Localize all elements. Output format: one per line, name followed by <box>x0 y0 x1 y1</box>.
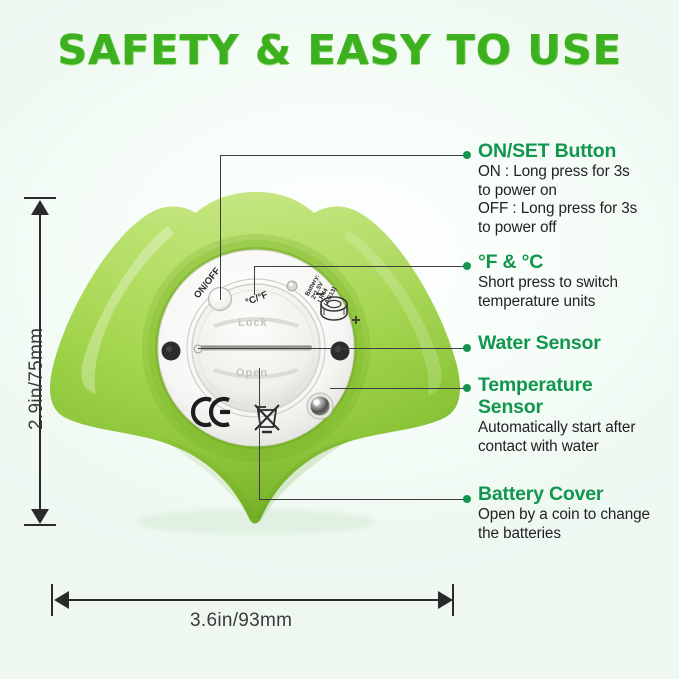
width-cap-right <box>452 584 454 616</box>
infographic-canvas: SAFETY & EASY TO USE <box>0 0 679 679</box>
callout-line: to power off <box>478 219 637 238</box>
width-arrow-right <box>438 591 453 609</box>
temperature-sensor-element <box>307 393 333 419</box>
callout-line: to power on <box>478 182 637 201</box>
leader-unit-horizontal <box>254 266 465 267</box>
leader-battery-vertical <box>259 368 260 500</box>
product-illustration: ON/OFF °C/°F Battery: 2*1.5V LR44 (AG13)… <box>48 186 468 546</box>
width-line <box>60 599 446 601</box>
height-arrow-bottom <box>31 509 49 524</box>
callout-line: Open by a coin to change <box>478 506 650 525</box>
leader-dot-unit <box>463 262 471 270</box>
callout-water-sensor: Water Sensor <box>478 332 601 354</box>
unit-switch-button-element <box>287 281 297 291</box>
callout-on-set-button: ON/SET Button ON : Long press for 3s to … <box>478 140 637 237</box>
page-title: SAFETY & EASY TO USE <box>0 26 679 74</box>
leader-dot-on-set <box>463 151 471 159</box>
callout-body-battery-cover: Open by a coin to change the batteries <box>478 506 650 543</box>
callout-line: Automatically start after <box>478 419 653 438</box>
leader-on-set-horizontal <box>220 155 465 156</box>
callout-line: the batteries <box>478 525 650 544</box>
height-cap-top <box>24 197 56 199</box>
callout-heading-on-set: ON/SET Button <box>478 140 637 162</box>
callout-f-and-c: °F & °C Short press to switch temperatur… <box>478 251 618 311</box>
height-label: 2.9in/75mm <box>26 328 48 430</box>
leader-temperature-sensor <box>330 388 465 389</box>
leader-dot-temperature-sensor <box>463 384 471 392</box>
callout-heading-water-sensor: Water Sensor <box>478 332 601 354</box>
callout-heading-temperature-sensor: Temperature Sensor <box>478 374 653 418</box>
callout-body-on-set: ON : Long press for 3s to power on OFF :… <box>478 163 637 237</box>
callout-line: temperature units <box>478 293 618 312</box>
height-cap-bottom <box>24 524 56 526</box>
leader-on-set-vertical <box>220 155 221 300</box>
leader-water-sensor <box>198 348 465 349</box>
callout-line: OFF : Long press for 3s <box>478 200 637 219</box>
callout-line: Short press to switch <box>478 274 618 293</box>
water-sensor-contact-right-inner <box>335 346 341 352</box>
callout-heading-battery-cover: Battery Cover <box>478 483 650 505</box>
callout-body-f-and-c: Short press to switch temperature units <box>478 274 618 311</box>
leader-battery-horizontal <box>259 499 465 500</box>
width-label: 3.6in/93mm <box>190 610 292 632</box>
callout-battery-cover: Battery Cover Open by a coin to change t… <box>478 483 650 543</box>
callout-heading-f-and-c: °F & °C <box>478 251 618 273</box>
callout-line: contact with water <box>478 438 653 457</box>
water-sensor-contact-left-inner <box>166 346 172 352</box>
callout-temperature-sensor: Temperature Sensor Automatically start a… <box>478 374 653 456</box>
leader-dot-battery-cover <box>463 495 471 503</box>
callout-body-temperature-sensor: Automatically start after contact with w… <box>478 419 653 456</box>
water-sensor-probe-dot <box>194 345 202 353</box>
leader-unit-vertical <box>254 266 255 295</box>
leader-dot-water-sensor <box>463 344 471 352</box>
callout-line: ON : Long press for 3s <box>478 163 637 182</box>
width-cap-left <box>51 584 53 616</box>
